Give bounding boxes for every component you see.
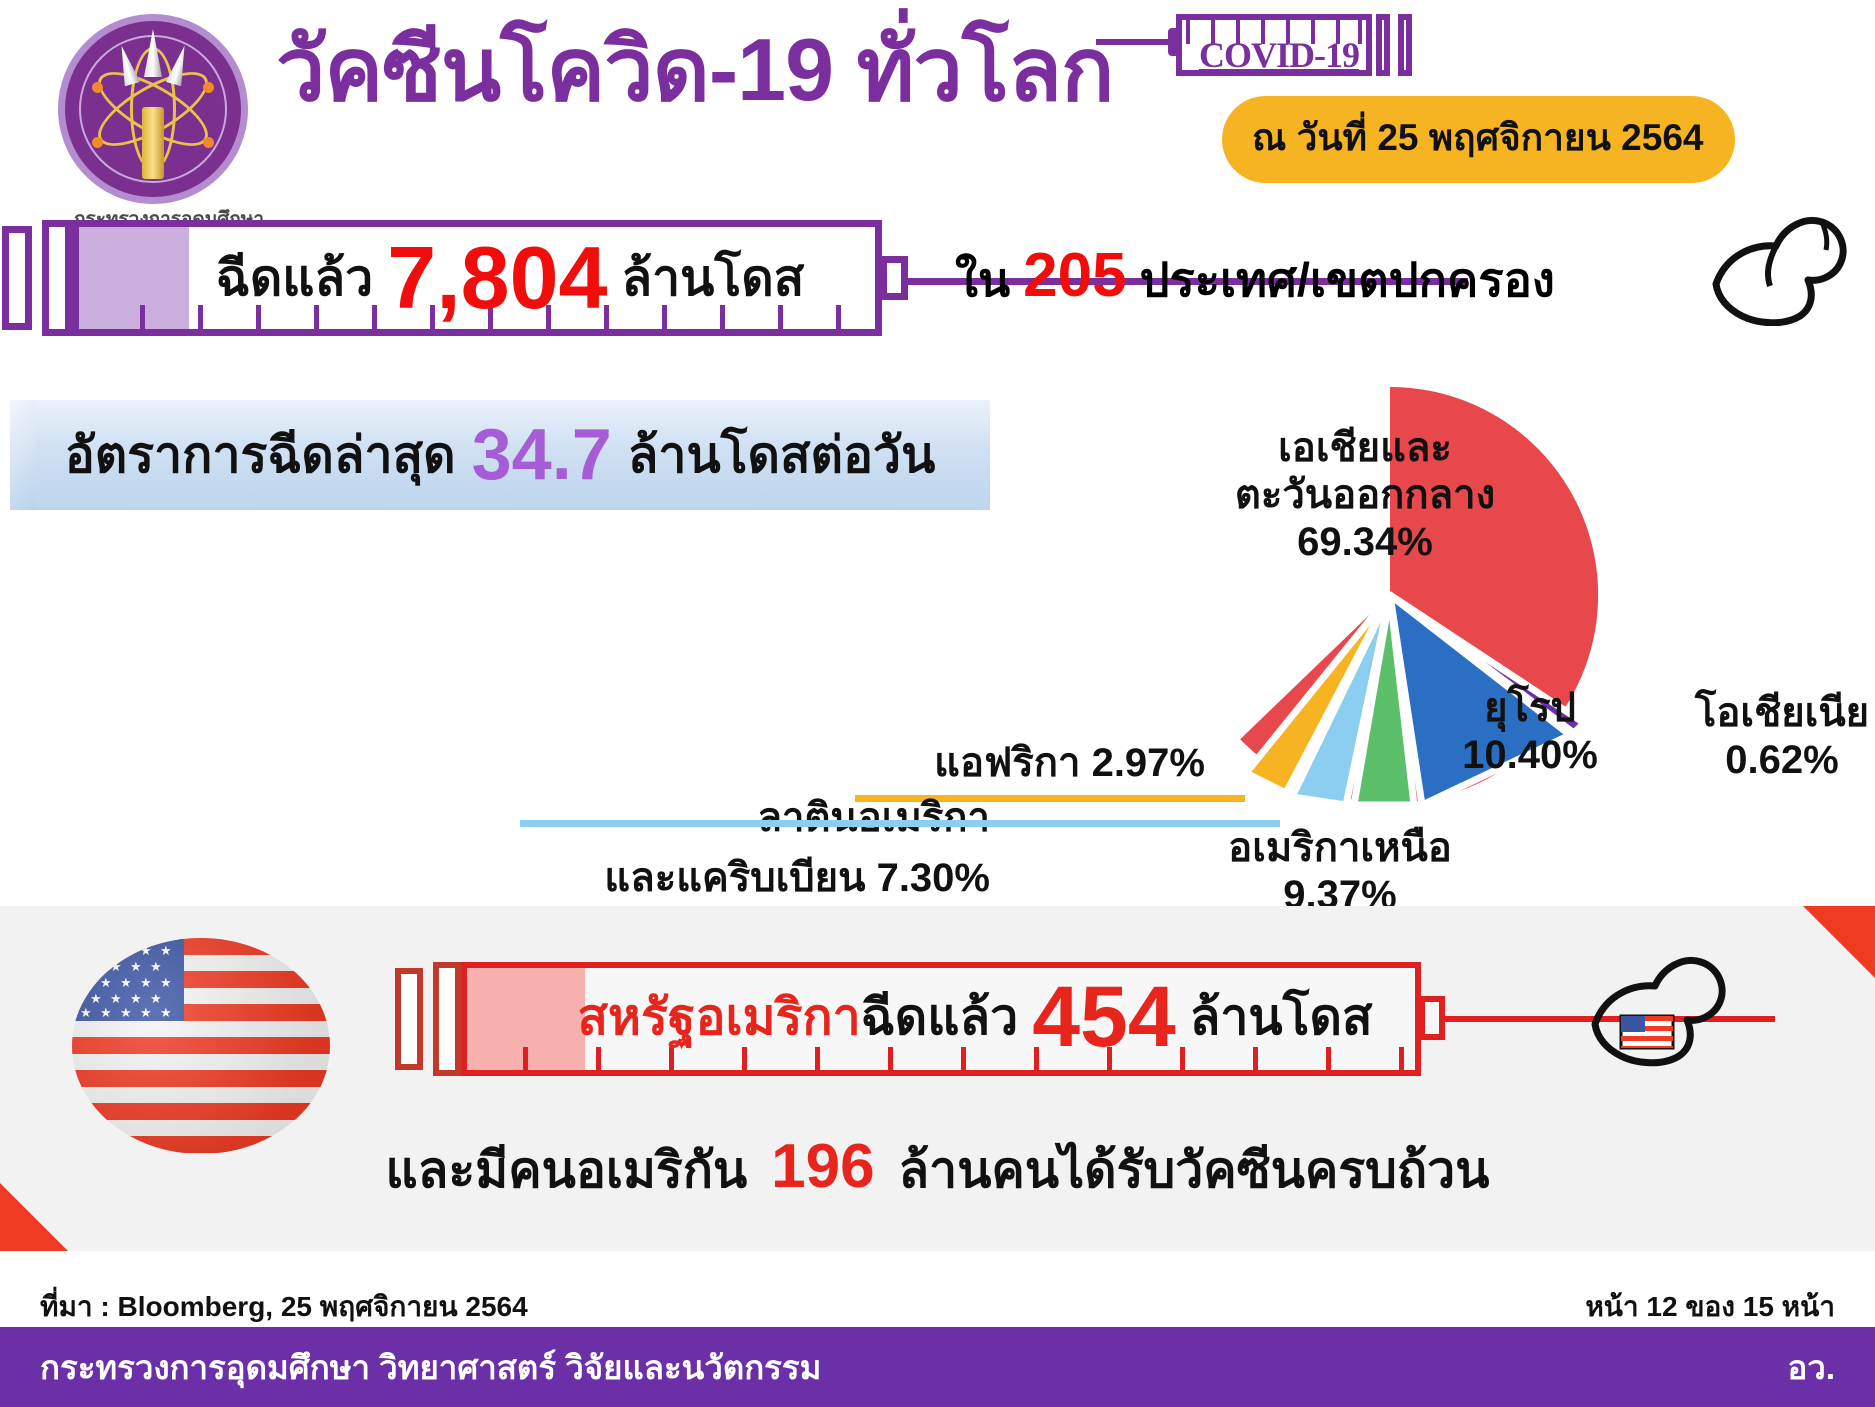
footer-bar: กระทรวงการอุดมศึกษา วิทยาศาสตร์ วิจัยและ… [0,1327,1875,1407]
usa-line2-suffix: ล้านคนได้รับวัคซีนครบถ้วน [899,1142,1490,1198]
footer-abbrev: อว. [1787,1341,1835,1394]
daily-rate-banner: อัตราการฉีดล่าสุด 34.7 ล้านโดสต่อวัน [10,400,990,510]
pie-label-oceania-value: 0.62% [1652,737,1875,784]
countries-suffix: ประเทศ/เขตปกครอง [1140,253,1555,306]
rate-suffix: ล้านโดสต่อวัน [628,416,936,495]
pie-label-latam: ลาตินอเมริกา [520,795,990,842]
usa-line2-value: 196 [771,1132,874,1201]
covid-syringe-icon: COVID-19 [1158,8,1418,88]
pie-label-europe-value: 10.40% [1420,732,1640,779]
global-doses-suffix: ล้านโดส [621,239,804,318]
usa-line2-prefix: และมีคนอเมริกัน [386,1142,748,1198]
pie-label-latam-line1: ลาตินอเมริกา [520,795,990,842]
pie-label-asia: เอเชียและ ตะวันออกกลาง 69.34% [1155,425,1575,567]
covid-badge-label: COVID-19 [1186,34,1372,76]
pie-label-asia-line2: ตะวันออกกลาง [1155,472,1575,519]
pie-label-asia-value: 69.34% [1155,519,1575,566]
global-doses-value: 7,804 [387,234,607,322]
page-title: วัคซีนโควิด-19 ทั่วโลก [276,26,1113,114]
countries-prefix: ใน [955,253,1010,306]
pie-label-oceania: โอเชียเนีย 0.62% [1652,690,1875,784]
pie-label-latam-line2: และแคริบเบียน 7.30% [520,855,990,902]
flexed-arm-usa-icon [1585,944,1745,1069]
rate-value: 34.7 [472,414,612,496]
source-text: ที่มา : Bloomberg, 25 พฤศจิกายน 2564 [40,1285,528,1329]
rate-prefix: อัตราการฉีดล่าสุด [65,416,456,495]
pie-label-africa: แอฟริกา 2.97% [855,740,1205,787]
countries-count-line: ใน 205 ประเทศ/เขตปกครอง [955,240,1555,317]
usa-fully-vaccinated-line: และมีคนอเมริกัน 196 ล้านคนได้รับวัคซีนคร… [0,1131,1875,1210]
date-badge: ณ วันที่ 25 พฤศจิกายน 2564 [1222,96,1735,183]
usa-section: ★★ ★★ ★ ★★ ★★ ★★ ★★ ★ ★★ ★★ ★★ ★★ ★ [0,906,1875,1251]
corner-triangle-top-right [1803,906,1875,978]
page-number: หน้า 12 ของ 15 หน้า [1585,1285,1835,1329]
global-doses-prefix: ฉีดแล้ว [216,239,373,318]
usa-flag-icon: ★★ ★★ ★ ★★ ★★ ★★ ★★ ★ ★★ ★★ ★★ ★★ ★ [72,938,330,1154]
pie-label-europe: ยุโรป 10.40% [1420,685,1640,779]
pie-label-oceania-name: โอเชียเนีย [1652,690,1875,737]
global-doses-syringe: ฉีดแล้ว 7,804 ล้านโดส [0,216,920,341]
pie-label-europe-name: ยุโรป [1420,685,1640,732]
usa-doses-syringe: สหรัฐอเมริกา ฉีดแล้ว 454 ล้านโดส [395,956,1455,1081]
footer-ministry-name: กระทรวงการอุดมศึกษา วิทยาศาสตร์ วิจัยและ… [40,1341,821,1394]
pie-label-asia-line1: เอเชียและ [1155,425,1575,472]
pie-leader-line-latam [520,820,1280,827]
countries-value: 205 [1023,241,1126,310]
pie-label-na-name: อเมริกาเหนือ [1190,825,1490,872]
usa-doses-value: 454 [1032,974,1176,1060]
usa-doses-country: สหรัฐอเมริกา [578,978,861,1057]
ministry-seal-icon [58,14,248,204]
usa-doses-prefix: ฉีดแล้ว [861,978,1018,1057]
flexed-arm-icon [1708,206,1858,326]
usa-doses-suffix: ล้านโดส [1190,978,1373,1057]
